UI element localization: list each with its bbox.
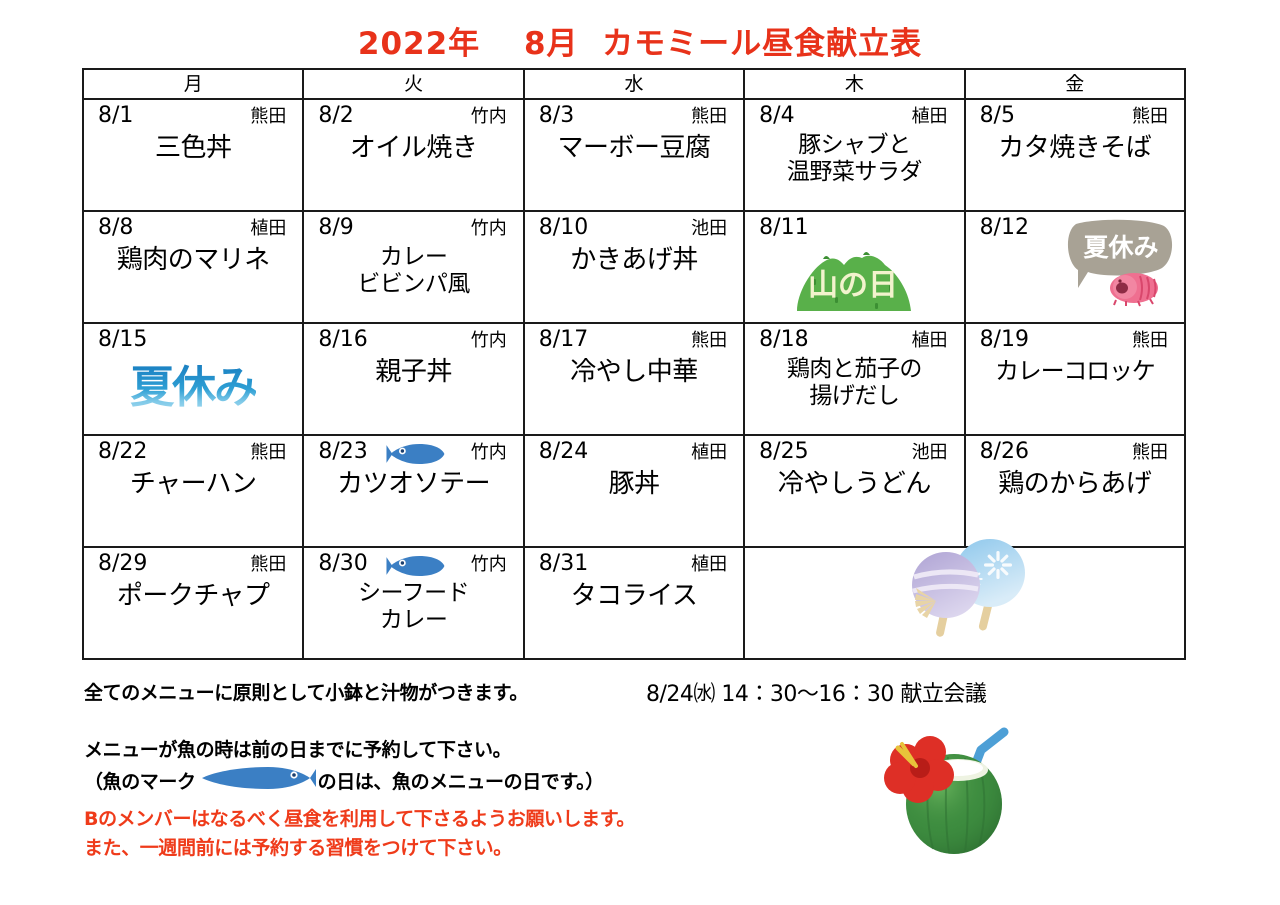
cell-menu: 鶏のからあげ xyxy=(966,464,1184,500)
cell-date: 8/9 xyxy=(318,215,353,240)
cell-menu: 豚シャブと 温野菜サラダ xyxy=(745,128,963,186)
svg-text:山の日: 山の日 xyxy=(808,268,898,303)
cell-header: 8/3熊田 xyxy=(525,100,743,128)
weekday-header-mon: 月 xyxy=(83,69,303,99)
calendar-week-row: 8/8植田鶏肉のマリネ8/9竹内カレー ビビンパ風8/10池田かきあげ丼8/11… xyxy=(83,211,1185,323)
cell-date: 8/29 xyxy=(98,551,147,576)
mountain-icon: 山の日 xyxy=(745,240,963,316)
fish-icon xyxy=(198,765,316,800)
cell-header: 8/16竹内 xyxy=(304,324,522,352)
fish-icon xyxy=(386,554,446,584)
cell-date: 8/25 xyxy=(759,439,808,464)
cell-staff: 竹内 xyxy=(471,443,511,464)
cell-menu: カレー ビビンパ風 xyxy=(304,240,522,298)
cell-header: 8/8植田 xyxy=(84,212,302,240)
cell-date: 8/15 xyxy=(98,327,147,352)
calendar-body: 8/1熊田三色丼8/2竹内オイル焼き8/3熊田マーボー豆腐8/4植田豚シャブと … xyxy=(83,99,1185,659)
calendar-cell-8-4: 8/4植田豚シャブと 温野菜サラダ xyxy=(744,99,964,211)
cell-staff: 植田 xyxy=(691,443,731,464)
cell-date: 8/31 xyxy=(539,551,588,576)
cell-staff: 植田 xyxy=(912,331,952,352)
cell-header: 8/26熊田 xyxy=(966,436,1184,464)
cell-menu: シーフード カレー xyxy=(304,576,522,634)
weekday-header-fri: 金 xyxy=(965,69,1185,99)
cell-date: 8/22 xyxy=(98,439,147,464)
cell-header: 8/25池田 xyxy=(745,436,963,464)
cell-menu: タコライス xyxy=(525,576,743,612)
cell-date: 8/2 xyxy=(318,103,353,128)
fish-icon xyxy=(386,442,446,472)
cell-header: 8/19熊田 xyxy=(966,324,1184,352)
cell-staff: 熊田 xyxy=(250,443,290,464)
cell-header: 8/2竹内 xyxy=(304,100,522,128)
note-request-line2: また、一週間前には予約する習慣をつけて下さい。 xyxy=(84,834,635,863)
note-menu-meeting: 8/24㈬ 14：30〜16：30 献立会議 xyxy=(646,676,986,708)
cell-header: 8/30竹内 xyxy=(304,548,522,576)
cell-date: 8/18 xyxy=(759,327,808,352)
cell-date: 8/12 xyxy=(980,215,1029,240)
note-request-red: Bのメンバーはなるべく昼食を利用して下さるようお願いします。 また、一週間前には… xyxy=(84,805,635,864)
cell-staff: 植田 xyxy=(912,107,952,128)
calendar-week-row: 8/29熊田ポークチャプ8/30竹内シーフード カレー8/31植田タコライス xyxy=(83,547,1185,659)
calendar-cell-8-24: 8/24植田豚丼 xyxy=(524,435,744,547)
cell-header: 8/17熊田 xyxy=(525,324,743,352)
cell-header: 8/18植田 xyxy=(745,324,963,352)
cell-date: 8/3 xyxy=(539,103,574,128)
cell-header: 8/23竹内 xyxy=(304,436,522,464)
cell-header: 8/10池田 xyxy=(525,212,743,240)
calendar-cell-8-12: 8/12夏休み xyxy=(965,211,1185,323)
cell-staff: 池田 xyxy=(912,443,952,464)
summer-break-label: 夏休み xyxy=(84,352,302,428)
note-fish-mark-suffix: の日は、魚のメニューの日です。） xyxy=(318,768,604,797)
calendar-cell-8-8: 8/8植田鶏肉のマリネ xyxy=(83,211,303,323)
calendar-cell-8-2: 8/2竹内オイル焼き xyxy=(303,99,523,211)
cell-header: 8/4植田 xyxy=(745,100,963,128)
weekday-header-wed: 水 xyxy=(524,69,744,99)
cell-staff: 植田 xyxy=(250,219,290,240)
cell-menu: マーボー豆腐 xyxy=(525,128,743,164)
cell-date: 8/30 xyxy=(318,551,367,576)
calendar-cell-8-10: 8/10池田かきあげ丼 xyxy=(524,211,744,323)
calendar-cell-8-30: 8/30竹内シーフード カレー xyxy=(303,547,523,659)
cell-menu: 親子丼 xyxy=(304,352,522,388)
cell-menu: 鶏肉のマリネ xyxy=(84,240,302,276)
cell-staff: 池田 xyxy=(691,219,731,240)
round-fan-icon xyxy=(745,548,1184,624)
cell-date: 8/11 xyxy=(759,215,808,240)
cell-staff: 竹内 xyxy=(471,107,511,128)
note-side-dishes: 全てのメニューに原則として小鉢と汁物がつきます。 xyxy=(84,678,528,705)
calendar-container: 月 火 水 木 金 8/1熊田三色丼8/2竹内オイル焼き8/3熊田マーボー豆腐8… xyxy=(82,68,1186,660)
calendar-cell-8-16: 8/16竹内親子丼 xyxy=(303,323,523,435)
cell-header: 8/1熊田 xyxy=(84,100,302,128)
cell-menu: チャーハン xyxy=(84,464,302,500)
weekday-header-row: 月 火 水 木 金 xyxy=(83,69,1185,99)
cell-menu: ポークチャプ xyxy=(84,576,302,612)
cell-menu: かきあげ丼 xyxy=(525,240,743,276)
menu-calendar-table: 月 火 水 木 金 8/1熊田三色丼8/2竹内オイル焼き8/3熊田マーボー豆腐8… xyxy=(82,68,1186,660)
cell-date: 8/24 xyxy=(539,439,588,464)
cell-menu: 豚丼 xyxy=(525,464,743,500)
note-fish-reservation-line1: メニューが魚の時は前の日までに予約して下さい。 xyxy=(84,736,604,765)
cell-date: 8/5 xyxy=(980,103,1015,128)
calendar-cell-8-11: 8/11山の日 xyxy=(744,211,964,323)
cell-header: 8/29熊田 xyxy=(84,548,302,576)
calendar-cell-8-3: 8/3熊田マーボー豆腐 xyxy=(524,99,744,211)
cell-date: 8/23 xyxy=(318,439,367,464)
cell-header: 8/12 xyxy=(966,212,1184,240)
cell-header: 8/9竹内 xyxy=(304,212,522,240)
calendar-cell-8-18: 8/18植田鶏肉と茄子の 揚げだし xyxy=(744,323,964,435)
calendar-cell-8-15: 8/15夏休み xyxy=(83,323,303,435)
calendar-cell-8-26: 8/26熊田鶏のからあげ xyxy=(965,435,1185,547)
cell-staff: 熊田 xyxy=(691,331,731,352)
cell-date: 8/4 xyxy=(759,103,794,128)
note-fish-reservation: メニューが魚の時は前の日までに予約して下さい。 （魚のマーク の日は、魚のメニュ… xyxy=(84,736,604,801)
note-fish-mark-prefix: （魚のマーク xyxy=(84,768,196,797)
calendar-cell-8-31: 8/31植田タコライス xyxy=(524,547,744,659)
cell-date: 8/26 xyxy=(980,439,1029,464)
cell-date: 8/10 xyxy=(539,215,588,240)
cell-menu: 冷やしうどん xyxy=(745,464,963,500)
calendar-cell-8-22: 8/22熊田チャーハン xyxy=(83,435,303,547)
calendar-cell-8-19: 8/19熊田カレーコロッケ xyxy=(965,323,1185,435)
cell-header: 8/11 xyxy=(745,212,963,240)
page-title: 2022年 8月 カモミール昼食献立表 xyxy=(0,18,1280,63)
calendar-cell-8-29: 8/29熊田ポークチャプ xyxy=(83,547,303,659)
cell-date: 8/8 xyxy=(98,215,133,240)
cell-menu: カタ焼きそば xyxy=(966,128,1184,164)
cell-header: 8/15 xyxy=(84,324,302,352)
cell-staff: 植田 xyxy=(691,555,731,576)
calendar-week-row: 8/1熊田三色丼8/2竹内オイル焼き8/3熊田マーボー豆腐8/4植田豚シャブと … xyxy=(83,99,1185,211)
coconut-drink-icon xyxy=(876,722,1026,865)
calendar-cell-8-17: 8/17熊田冷やし中華 xyxy=(524,323,744,435)
calendar-cell-8-1: 8/1熊田三色丼 xyxy=(83,99,303,211)
cell-menu: カレーコロッケ xyxy=(966,352,1184,386)
calendar-cell-decorative xyxy=(744,547,1185,659)
cell-date: 8/19 xyxy=(980,327,1029,352)
cell-header: 8/5熊田 xyxy=(966,100,1184,128)
cell-menu: 鶏肉と茄子の 揚げだし xyxy=(745,352,963,410)
cell-date: 8/1 xyxy=(98,103,133,128)
cell-staff: 熊田 xyxy=(1132,443,1172,464)
cell-staff: 熊田 xyxy=(250,555,290,576)
cell-date: 8/17 xyxy=(539,327,588,352)
cell-staff: 熊田 xyxy=(1132,107,1172,128)
cell-staff: 竹内 xyxy=(471,331,511,352)
weekday-header-tue: 火 xyxy=(303,69,523,99)
note-fish-reservation-line2: （魚のマーク の日は、魚のメニューの日です。） xyxy=(84,765,604,800)
cell-staff: 熊田 xyxy=(1132,331,1172,352)
cell-staff: 熊田 xyxy=(250,107,290,128)
calendar-week-row: 8/22熊田チャーハン8/23竹内カツオソテー8/24植田豚丼8/25池田冷やし… xyxy=(83,435,1185,547)
calendar-week-row: 8/15夏休み8/16竹内親子丼8/17熊田冷やし中華8/18植田鶏肉と茄子の … xyxy=(83,323,1185,435)
cell-staff: 熊田 xyxy=(691,107,731,128)
cell-menu: 三色丼 xyxy=(84,128,302,164)
weekday-header-thu: 木 xyxy=(744,69,964,99)
cell-date: 8/16 xyxy=(318,327,367,352)
calendar-cell-8-5: 8/5熊田カタ焼きそば xyxy=(965,99,1185,211)
cell-header: 8/22熊田 xyxy=(84,436,302,464)
cell-staff: 竹内 xyxy=(471,219,511,240)
cell-menu: 冷やし中華 xyxy=(525,352,743,388)
cell-header: 8/31植田 xyxy=(525,548,743,576)
calendar-cell-8-25: 8/25池田冷やしうどん xyxy=(744,435,964,547)
cell-menu: オイル焼き xyxy=(304,128,522,164)
calendar-cell-8-23: 8/23竹内カツオソテー xyxy=(303,435,523,547)
cell-staff: 竹内 xyxy=(471,555,511,576)
cell-header: 8/24植田 xyxy=(525,436,743,464)
calendar-cell-8-9: 8/9竹内カレー ビビンパ風 xyxy=(303,211,523,323)
note-request-line1: Bのメンバーはなるべく昼食を利用して下さるようお願いします。 xyxy=(84,805,635,834)
